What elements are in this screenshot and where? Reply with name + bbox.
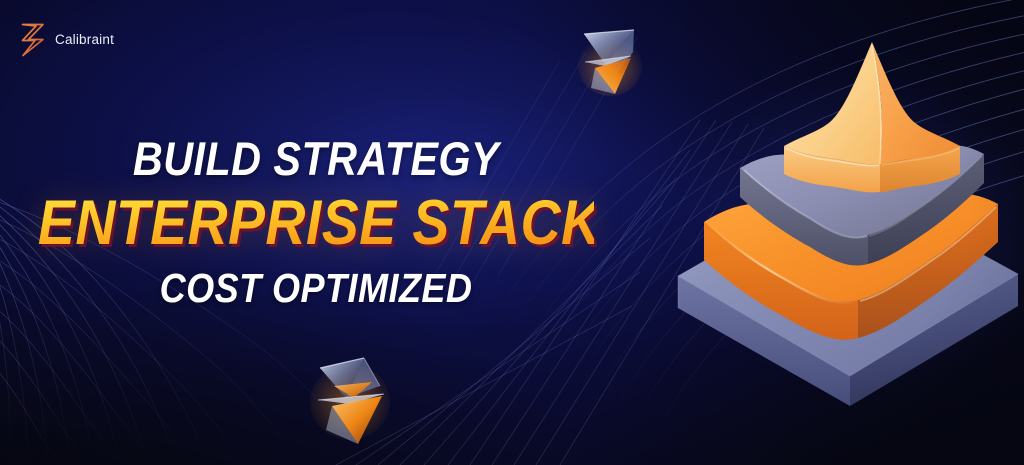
headline-line-1: BUILD STRATEGY bbox=[38, 132, 594, 186]
calibraint-z-bolt-logo-icon bbox=[18, 22, 48, 58]
headline-block: BUILD STRATEGY ENTERPRISE STACK COST OPT… bbox=[0, 132, 632, 312]
headline-line-2: ENTERPRISE STACK bbox=[38, 188, 594, 258]
headline-line-3: COST OPTIMIZED bbox=[38, 264, 594, 312]
glass-hourglass-top-icon bbox=[575, 22, 645, 104]
promo-banner: Calibraint BUILD STRATEGY ENTERPRISE STA… bbox=[0, 0, 1024, 465]
brand-logo[interactable]: Calibraint bbox=[18, 22, 114, 58]
brand-name: Calibraint bbox=[55, 33, 114, 47]
glass-hourglass-bottom-icon bbox=[306, 352, 394, 450]
layered-3d-stack-illustration bbox=[668, 8, 1024, 408]
